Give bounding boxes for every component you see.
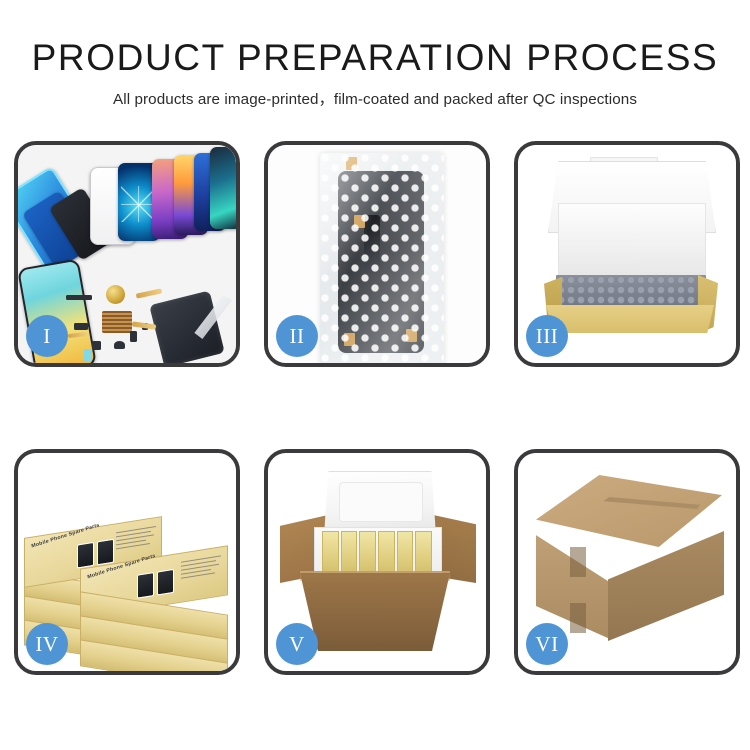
step-card-4[interactable]: Mobile Phone Spare Parts Mobile Phone Sp… [14,449,240,675]
step-badge-3: III [526,315,568,357]
step-card-1[interactable]: I [14,141,240,367]
step-card-3[interactable]: III [514,141,740,367]
step-card-6[interactable]: VI [514,449,740,675]
process-steps-grid: I II [14,141,740,675]
step-badge-1: I [26,315,68,357]
step-card-5[interactable]: V [264,449,490,675]
step-badge-4: IV [26,623,68,665]
page-header: PRODUCT PREPARATION PROCESS All products… [0,0,750,109]
step-card-2[interactable]: II [264,141,490,367]
step-badge-5: V [276,623,318,665]
step-badge-6: VI [526,623,568,665]
page-subtitle: All products are image-printed，film-coat… [0,87,750,109]
page-title: PRODUCT PREPARATION PROCESS [0,38,750,78]
step-badge-2: II [276,315,318,357]
